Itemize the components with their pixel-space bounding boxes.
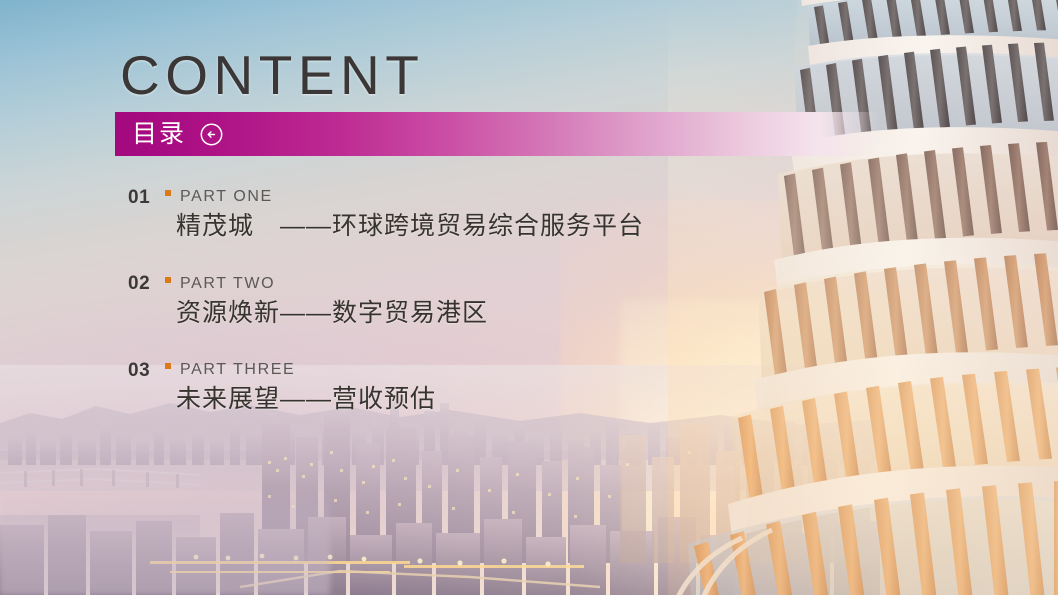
toc-number: 01: [128, 188, 156, 207]
page-title: CONTENT: [120, 48, 424, 103]
slide-canvas: CONTENT 目录 01 PART ONE: [0, 0, 1058, 595]
section-banner: 目录: [115, 112, 880, 156]
square-bullet-icon: [165, 190, 171, 196]
toc-chinese-label: 未来展望——营收预估: [176, 384, 888, 416]
toc-number: 03: [128, 361, 156, 380]
toc-english-label: PART THREE: [180, 362, 295, 378]
table-of-contents: 01 PART ONE 精茂城 ——环球跨境贸易综合服务平台 02 PART T…: [128, 186, 888, 416]
toc-english-label: PART TWO: [180, 276, 275, 292]
square-bullet-icon: [165, 363, 171, 369]
toc-chinese-label: 精茂城 ——环球跨境贸易综合服务平台: [176, 211, 888, 243]
toc-chinese-label: 资源焕新——数字贸易港区: [176, 298, 888, 330]
toc-item-02[interactable]: 02 PART TWO 资源焕新——数字贸易港区: [128, 273, 888, 330]
banner-label: 目录: [132, 122, 186, 147]
toc-item-01[interactable]: 01 PART ONE 精茂城 ——环球跨境贸易综合服务平台: [128, 186, 888, 243]
square-bullet-icon: [165, 277, 171, 283]
toc-item-03[interactable]: 03 PART THREE 未来展望——营收预估: [128, 359, 888, 416]
toc-english-label: PART ONE: [180, 189, 273, 205]
circle-arrow-left-icon[interactable]: [199, 122, 224, 147]
toc-number: 02: [128, 274, 156, 293]
